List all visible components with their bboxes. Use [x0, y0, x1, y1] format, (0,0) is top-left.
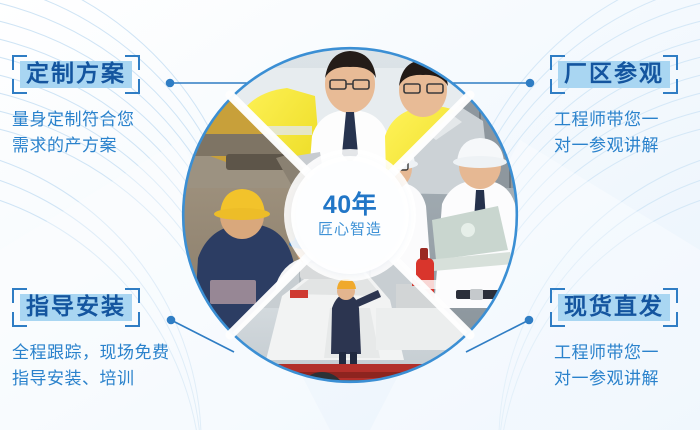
feature-description-line: 对一参观讲解: [554, 366, 700, 392]
feature-description: 全程跟踪，现场免费 指导安装、培训: [12, 340, 262, 393]
bracket-bottom-right-icon: [663, 312, 678, 327]
bracket-top-right-icon: [125, 55, 140, 70]
feature-tag-installation-guidance[interactable]: 指导安装: [12, 288, 140, 327]
feature-description-line: 指导安装、培训: [12, 366, 262, 392]
feature-tag-label: 现货直发: [564, 293, 664, 319]
feature-description: 工程师带您一 对一参观讲解: [554, 107, 700, 160]
feature-installation-guidance[interactable]: 指导安装 全程跟踪，现场免费 指导安装、培训: [12, 288, 262, 393]
bracket-bottom-right-icon: [663, 79, 678, 94]
feature-description-line: 工程师带您一: [554, 107, 700, 133]
bracket-top-left-icon: [550, 55, 565, 70]
feature-description-line: 全程跟踪，现场免费: [12, 340, 262, 366]
center-headline: 40年: [323, 193, 377, 218]
center-subline: 匠心智造: [318, 222, 382, 237]
feature-tag-factory-tour[interactable]: 厂区参观: [550, 55, 678, 94]
center-badge: 40年 匠心智造: [296, 161, 404, 269]
feature-in-stock-shipping[interactable]: 现货直发 工程师带您一 对一参观讲解: [532, 288, 700, 393]
feature-description-line: 需求的产方案: [12, 133, 262, 159]
feature-description-line: 量身定制符合您: [12, 107, 262, 133]
feature-tag-in-stock-shipping[interactable]: 现货直发: [550, 288, 678, 327]
bracket-top-left-icon: [12, 288, 27, 303]
bracket-bottom-left-icon: [12, 312, 27, 327]
feature-tag-label: 指导安装: [26, 293, 126, 319]
feature-description-line: 工程师带您一: [554, 340, 700, 366]
bracket-bottom-left-icon: [550, 312, 565, 327]
feature-tag-custom-solution[interactable]: 定制方案: [12, 55, 140, 94]
bracket-top-right-icon: [663, 55, 678, 70]
bracket-bottom-left-icon: [550, 79, 565, 94]
bracket-top-left-icon: [12, 55, 27, 70]
feature-custom-solution[interactable]: 定制方案 量身定制符合您 需求的产方案: [12, 55, 262, 160]
bracket-bottom-left-icon: [12, 79, 27, 94]
bracket-bottom-right-icon: [125, 312, 140, 327]
bracket-bottom-right-icon: [125, 79, 140, 94]
bracket-top-left-icon: [550, 288, 565, 303]
feature-tag-label: 定制方案: [26, 60, 126, 86]
feature-tag-label: 厂区参观: [564, 60, 664, 86]
feature-description: 工程师带您一 对一参观讲解: [554, 340, 700, 393]
feature-description-line: 对一参观讲解: [554, 133, 700, 159]
bracket-top-right-icon: [125, 288, 140, 303]
bracket-top-right-icon: [663, 288, 678, 303]
feature-description: 量身定制符合您 需求的产方案: [12, 107, 262, 160]
infographic-canvas: 40年 匠心智造 定制方案 量身定制符合您 需求的产方案 厂区参观: [0, 0, 700, 430]
feature-factory-tour[interactable]: 厂区参观 工程师带您一 对一参观讲解: [532, 55, 700, 160]
